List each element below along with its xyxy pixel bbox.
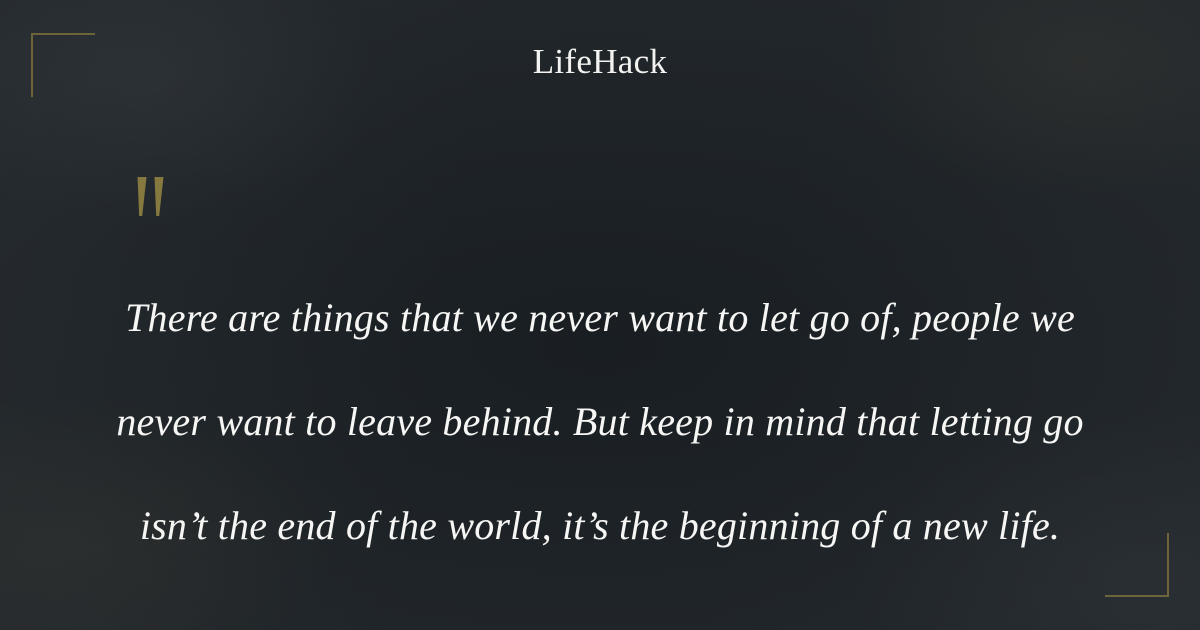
quote-text: There are things that we never want to l… xyxy=(80,240,1120,604)
quote-mark-icon xyxy=(133,176,177,218)
quote-line-1: There are things that we never want to l… xyxy=(80,292,1120,344)
quote-line-2: never want to leave behind. But keep in … xyxy=(80,396,1120,448)
brand-logo[interactable]: LifeHack xyxy=(0,42,1200,82)
quote-line-3: isn’t the end of the world, it’s the beg… xyxy=(80,500,1120,552)
quote-card: LifeHack There are things that we never … xyxy=(0,0,1200,630)
